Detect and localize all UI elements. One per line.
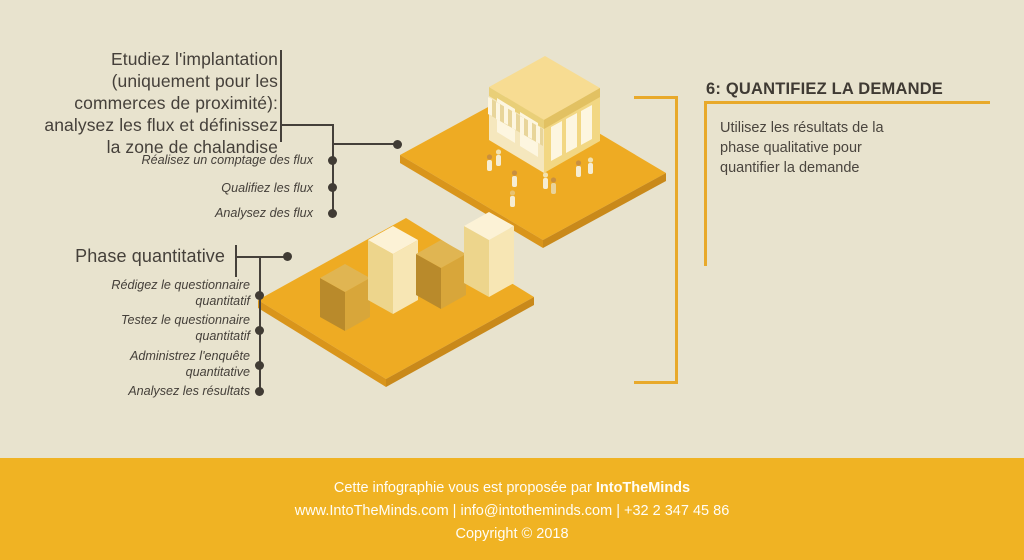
footer-band: Cette infographie vous est proposée par … — [0, 458, 1024, 560]
group2-title-bracket — [235, 245, 237, 277]
group1-branch-to-scene — [332, 143, 398, 145]
node-dot — [393, 140, 402, 149]
group1-horizontal-top — [280, 124, 334, 126]
node-dot — [283, 252, 292, 261]
footer-credit-text: Cette infographie vous est proposée par — [334, 480, 596, 496]
chart-platform — [258, 218, 534, 387]
panel-description: Utilisez les résultats de la phase quali… — [720, 118, 935, 178]
outer-bracket-bottom — [634, 381, 678, 384]
footer-contact[interactable]: www.IntoTheMinds.com | info@intotheminds… — [0, 503, 1024, 519]
list-item: Réalisez un comptage des flux — [40, 153, 313, 169]
node-dot — [255, 361, 264, 370]
list-item: Qualifiez les flux — [40, 181, 313, 197]
group1-vertical-spine — [332, 124, 334, 214]
list-item: Analysez des flux — [40, 206, 313, 222]
node-dot — [255, 387, 264, 396]
list-item: Administrez l'enquête quantitative — [20, 349, 250, 380]
group2-horizontal-top — [235, 256, 289, 258]
group1-title-bracket — [280, 50, 282, 142]
list-item: Testez le questionnaire quantitatif — [20, 313, 250, 344]
group2-vertical-spine — [259, 256, 261, 391]
list-item: Rédigez le questionnaire quantitatif — [20, 278, 250, 309]
chart-bars — [320, 212, 514, 331]
outer-bracket-spine — [675, 96, 678, 384]
panel-bracket-spine — [704, 101, 707, 266]
group-title-phase-quantitative: Phase quantitative — [10, 245, 225, 267]
shop-building — [488, 56, 600, 173]
group-title-implantation: Etudiez l'implantation (uniquement pour … — [10, 48, 278, 158]
infographic-canvas: Etudiez l'implantation (uniquement pour … — [0, 0, 1024, 560]
storefront-platform — [400, 88, 666, 248]
footer-credit: Cette infographie vous est proposée par … — [0, 480, 1024, 496]
panel-bracket-top — [704, 101, 990, 104]
brand-name: IntoTheMinds — [596, 480, 690, 496]
node-dot — [255, 291, 264, 300]
awning — [488, 97, 543, 146]
footer-copyright: Copyright © 2018 — [0, 526, 1024, 542]
node-dot — [328, 209, 337, 218]
node-dot — [328, 183, 337, 192]
node-dot — [255, 326, 264, 335]
pedestrian-figures — [487, 149, 593, 207]
page-title: 6: QUANTIFIEZ LA DEMANDE — [706, 80, 1006, 99]
list-item: Analysez les résultats — [20, 384, 250, 400]
outer-bracket-top — [634, 96, 678, 99]
node-dot — [328, 156, 337, 165]
